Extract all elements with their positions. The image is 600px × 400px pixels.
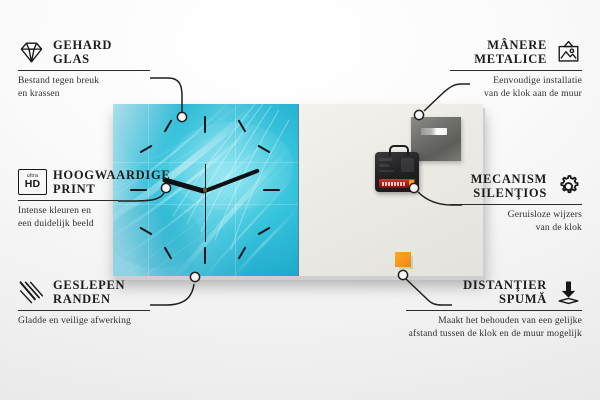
mechanism-detail	[379, 164, 389, 167]
callout-rule	[18, 310, 150, 311]
callout-title: DISTANŢIER SPUMĂ	[406, 278, 547, 306]
battery-label	[382, 182, 406, 186]
callout-title: HOOGWAARDIGE PRINT	[53, 168, 170, 196]
spacer-arrow-icon	[555, 279, 582, 306]
diamond-icon	[18, 39, 45, 66]
beveled-edges-icon	[18, 279, 45, 306]
clock-second-hand	[205, 164, 206, 242]
callout-rule	[18, 70, 150, 71]
callout-title: MÂNERE METALICE	[450, 38, 547, 66]
callout-rule	[450, 70, 582, 71]
callout-manere-metalice[interactable]: MÂNERE METALICE Eenvoudige installatie v…	[450, 38, 582, 101]
gear-icon	[555, 173, 582, 200]
callout-gehard-glas[interactable]: GEHARD GLAS Bestand tegen breuk en krass…	[18, 38, 150, 101]
callout-title: GESLEPEN RANDEN	[53, 278, 125, 306]
callout-hoogwaardige-print[interactable]: ultra HD HOOGWAARDIGE PRINT Intense kleu…	[18, 168, 118, 231]
callout-header: ultra HD HOOGWAARDIGE PRINT	[18, 168, 118, 196]
callout-description: Geruisloze wijzers van de klok	[450, 209, 582, 235]
callout-rule	[18, 200, 118, 201]
callout-title: GEHARD GLAS	[53, 38, 112, 66]
callout-description: Eenvoudige installatie van de klok aan d…	[450, 75, 582, 101]
mechanism-detail	[379, 158, 392, 161]
panel-seam	[113, 162, 298, 163]
clock-tick	[204, 116, 206, 133]
battery	[379, 179, 415, 188]
callout-header: DISTANŢIER SPUMĂ	[406, 278, 582, 306]
hanger-slot	[421, 128, 447, 135]
mechanism-detail	[379, 170, 394, 172]
clock-center-pin	[203, 188, 207, 192]
callout-header: MÂNERE METALICE	[450, 38, 582, 66]
ultra-hd-icon: ultra HD	[18, 169, 45, 196]
callout-rule	[450, 204, 582, 205]
callout-description: Gladde en veilige afwerking	[18, 315, 150, 328]
callout-description: Intense kleuren en een duidelijk beeld	[18, 205, 118, 231]
ultra-hd-main-text: HD	[25, 179, 41, 190]
callout-header: GESLEPEN RANDEN	[18, 278, 150, 306]
callout-mecanism-silentios[interactable]: MECANISM SILENŢIOS Geruisloze wijzers va…	[450, 172, 582, 235]
mechanism-detail	[401, 158, 414, 172]
foam-spacer	[395, 252, 411, 267]
clock-tick	[204, 247, 206, 264]
callout-description: Bestand tegen breuk en krassen	[18, 75, 150, 101]
hanging-frame-icon	[555, 39, 582, 66]
callout-geslepen-randen[interactable]: GESLEPEN RANDEN Gladde en veilige afwerk…	[18, 278, 150, 328]
callout-distantier-spuma[interactable]: DISTANŢIER SPUMĂ Maakt het behouden van …	[406, 278, 582, 341]
callout-rule	[406, 310, 582, 311]
panel-seam	[235, 104, 236, 276]
clock-mechanism	[375, 152, 419, 192]
mechanism-hanger-loop	[389, 145, 409, 156]
callout-title: MECANISM SILENŢIOS	[450, 172, 547, 200]
infographic-stage: GEHARD GLAS Bestand tegen breuk en krass…	[0, 0, 600, 400]
callout-header: MECANISM SILENŢIOS	[450, 172, 582, 200]
callout-description: Maakt het behouden van een gelijke afsta…	[406, 315, 582, 341]
callout-header: GEHARD GLAS	[18, 38, 150, 66]
battery-terminal	[409, 180, 414, 187]
clock-tick	[263, 189, 280, 191]
